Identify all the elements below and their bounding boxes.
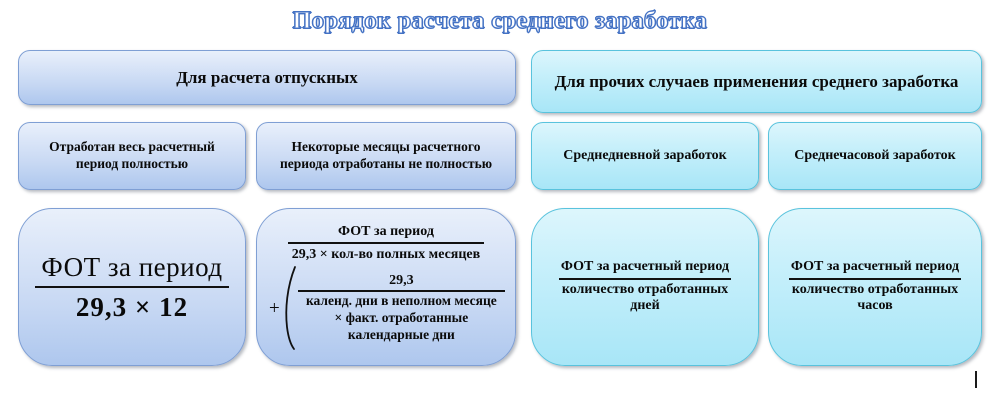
formula-daily-denominator-line2: дней bbox=[561, 298, 729, 315]
formula-partial-term1-numerator: ФОТ за период bbox=[288, 223, 484, 242]
header-label-other-cases: Для прочих случаев применения среднего з… bbox=[555, 71, 959, 92]
formula-hourly-numerator: ФОТ за расчетный период bbox=[789, 259, 961, 278]
formula-partial-term2-numerator: 29,3 bbox=[298, 272, 505, 291]
formula-partial-term2-tail-line1: × факт. отработанные bbox=[298, 310, 505, 327]
formula-full-period: ФОТ за период 29,3 × 12 bbox=[35, 251, 228, 324]
formula-full-period-denominator: 29,3 × 12 bbox=[35, 286, 228, 323]
left-parenthesis-icon bbox=[282, 265, 298, 351]
denominator-value: 29,3 bbox=[76, 292, 127, 322]
formula-partial-term2-body: 29,3 календ. дни в неполном месяце × фак… bbox=[298, 272, 507, 344]
formula-hourly-earnings: ФОТ за расчетный период количество отраб… bbox=[789, 259, 961, 315]
formula-box-daily-earnings[interactable]: ФОТ за расчетный период количество отраб… bbox=[531, 208, 759, 366]
condition-label-full-period: Отработан весь расчетный период полность… bbox=[29, 139, 235, 173]
condition-box-partial-period[interactable]: Некоторые месяцы расчетного периода отра… bbox=[256, 122, 516, 190]
formula-hourly-denominator-line2: часов bbox=[791, 298, 959, 315]
formula-hourly-denominator-line1: количество отработанных bbox=[791, 282, 959, 299]
formula-box-partial-period[interactable]: ФОТ за период 29,3 × кол-во полных месяц… bbox=[256, 208, 516, 366]
text-cursor-caret bbox=[975, 371, 977, 388]
formula-daily-earnings: ФОТ за расчетный период количество отраб… bbox=[559, 259, 731, 315]
plus-icon: + bbox=[265, 299, 282, 318]
formula-daily-denominator: количество отработанных дней bbox=[559, 278, 731, 316]
formula-full-period-numerator: ФОТ за период bbox=[35, 251, 228, 286]
header-box-vacation[interactable]: Для расчета отпускных bbox=[18, 50, 516, 105]
formula-partial-term2-tail-line2: календарные дни bbox=[298, 327, 505, 344]
formula-hourly-denominator: количество отработанных часов bbox=[789, 278, 961, 316]
formula-partial-term2: + 29,3 календ. дни в неполном месяце × ф… bbox=[265, 265, 507, 351]
formula-partial-term2-denominator: календ. дни в неполном месяце bbox=[298, 290, 505, 310]
condition-box-hourly-earnings[interactable]: Среднечасовой заработок bbox=[768, 122, 982, 190]
formula-partial-term1: ФОТ за период 29,3 × кол-во полных месяц… bbox=[288, 223, 484, 263]
page-title: Порядок расчета среднего заработка bbox=[0, 8, 1000, 35]
header-label-vacation: Для расчета отпускных bbox=[176, 67, 358, 88]
condition-box-full-period[interactable]: Отработан весь расчетный период полность… bbox=[18, 122, 246, 190]
header-box-other-cases[interactable]: Для прочих случаев применения среднего з… bbox=[531, 50, 982, 113]
formula-box-hourly-earnings[interactable]: ФОТ за расчетный период количество отраб… bbox=[768, 208, 982, 366]
condition-label-partial-period: Некоторые месяцы расчетного периода отра… bbox=[267, 139, 505, 173]
condition-box-daily-earnings[interactable]: Среднедневной заработок bbox=[531, 122, 759, 190]
formula-daily-numerator: ФОТ за расчетный период bbox=[559, 259, 731, 278]
condition-label-daily-earnings: Среднедневной заработок bbox=[563, 147, 726, 165]
formula-partial-period: ФОТ за период 29,3 × кол-во полных месяц… bbox=[265, 223, 507, 351]
formula-box-full-period[interactable]: ФОТ за период 29,3 × 12 bbox=[18, 208, 246, 366]
condition-label-hourly-earnings: Среднечасовой заработок bbox=[794, 147, 956, 165]
denominator-months: 12 bbox=[159, 292, 188, 322]
formula-daily-denominator-line1: количество отработанных bbox=[561, 282, 729, 299]
multiply-icon: × bbox=[135, 292, 151, 322]
formula-partial-term1-denominator: 29,3 × кол-во полных месяцев bbox=[288, 242, 484, 264]
